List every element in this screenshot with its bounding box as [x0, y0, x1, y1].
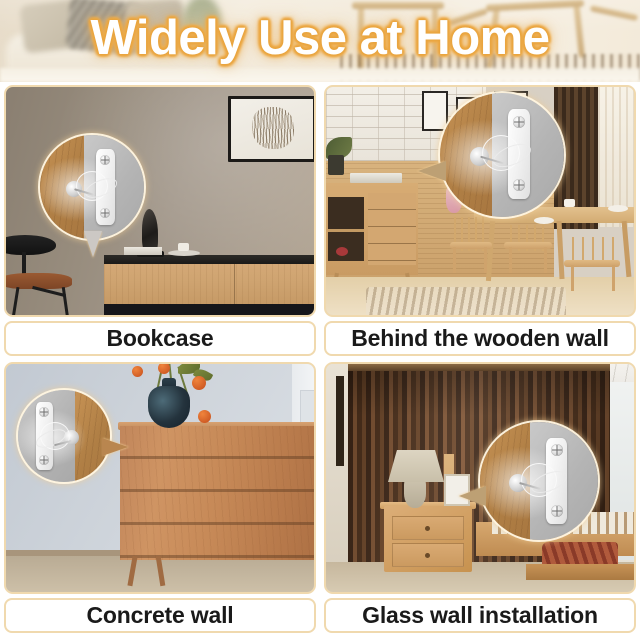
panel-bookcase: Bookcase: [4, 85, 316, 357]
panel-concrete-wall: Concrete wall: [4, 362, 316, 634]
dining-chair-2: [504, 225, 552, 273]
panel-label-text: Glass wall installation: [362, 602, 598, 629]
panel-label-glass-wall: Glass wall installation: [324, 598, 636, 633]
callout-tail: [84, 231, 102, 257]
decor-books: [124, 247, 162, 255]
header-floor-blur: [0, 68, 640, 82]
panel-wooden-wall: Behind the wooden wall: [324, 85, 636, 357]
callout-tail: [418, 161, 446, 181]
screw-top-icon: [39, 407, 49, 417]
cabinet-drawers: [368, 193, 416, 265]
plant-pot: [328, 155, 344, 175]
table-plate-1: [534, 217, 554, 224]
sideboard-top: [104, 255, 316, 264]
callout-tail: [102, 438, 128, 456]
decor-fruit-3: [192, 376, 206, 390]
chair-leg-left: [571, 265, 574, 291]
panel-label-concrete-wall: Concrete wall: [4, 598, 316, 633]
panel-grid: Bookcase: [0, 82, 640, 637]
panel-photo-glass-wall: [324, 362, 636, 594]
screw-top-icon: [513, 116, 525, 128]
screw-top-icon: [100, 155, 110, 165]
panel-glass-wall: Glass wall installation: [324, 362, 636, 634]
panel-label-text: Behind the wooden wall: [351, 325, 609, 352]
callout-wooden-wall: [440, 93, 564, 217]
hardware-assembly: [82, 149, 128, 227]
screw-bottom-icon: [551, 505, 563, 517]
panel-photo-concrete-wall: [4, 362, 316, 594]
anti-tip-bracket-magnifier-icon: [18, 390, 110, 482]
dining-chair-3: [564, 237, 620, 291]
chair-leg-left: [509, 247, 512, 273]
hardware-assembly: [490, 109, 544, 201]
bed-bench: [526, 564, 634, 580]
panel-label-text: Bookcase: [106, 325, 213, 352]
page-title: Widely Use at Home: [0, 7, 640, 69]
chair-leg-right: [544, 247, 547, 273]
lamp-shade: [388, 450, 444, 482]
curtain-rod: [344, 364, 610, 371]
dining-chair-1: [450, 217, 492, 273]
scene-dresser-room: [6, 364, 314, 592]
abstract-artwork: [252, 107, 294, 149]
callout-glass-wall: [480, 422, 598, 540]
callout-tail: [459, 486, 486, 506]
table-leg-3: [622, 221, 632, 277]
header-banner: Widely Use at Home: [0, 0, 640, 82]
cabinet-shelf-divider: [328, 229, 364, 232]
sideboard-base: [104, 304, 316, 316]
sideboard-woodgrain: [104, 264, 316, 304]
screw-bottom-icon: [100, 208, 110, 218]
hardware-assembly: [36, 402, 80, 472]
scene-living-room: [6, 87, 314, 315]
scene-bedroom-curtains: [326, 364, 634, 592]
panel-label-text: Concrete wall: [87, 602, 234, 629]
left-dark-strip: [336, 376, 344, 466]
drawer-knob-bottom: [425, 553, 430, 558]
decor-fruit-2: [158, 362, 170, 374]
callout-bookcase: [40, 135, 144, 239]
panel-photo-bookcase: [4, 85, 316, 317]
decor-cup: [178, 243, 189, 251]
table-plate-2: [608, 205, 628, 212]
chair-leg-right: [484, 247, 487, 273]
anti-tip-bracket-magnifier-icon: [440, 93, 564, 217]
dresser-woodgrain: [120, 426, 316, 560]
panel-label-bookcase: Bookcase: [4, 321, 316, 356]
screw-bottom-icon: [39, 455, 49, 465]
panel-photo-wooden-wall: [324, 85, 636, 317]
panel-label-wooden-wall: Behind the wooden wall: [324, 321, 636, 356]
screw-top-icon: [551, 444, 563, 456]
infographic-page: Widely Use at Home: [0, 0, 640, 637]
callout-concrete-wall: [18, 390, 110, 482]
decor-fruit-1: [132, 366, 143, 377]
drawer-knob-top: [425, 526, 430, 531]
area-rug: [366, 287, 566, 317]
chair-leg-left: [453, 247, 456, 273]
chair-leg-right: [612, 265, 615, 291]
screw-bottom-icon: [513, 179, 525, 191]
vase-navy: [148, 386, 190, 428]
stacked-magazines: [350, 173, 402, 183]
table-cup: [564, 199, 575, 207]
sideboard-door-seam: [234, 264, 235, 304]
anti-tip-bracket-magnifier-icon: [480, 422, 598, 540]
hardware-assembly: [528, 438, 580, 526]
scene-dining-room: [326, 87, 634, 315]
anti-tip-bracket-magnifier-icon: [40, 135, 144, 239]
cabinet-red-object: [336, 247, 348, 256]
decor-fruit-4: [198, 410, 211, 423]
